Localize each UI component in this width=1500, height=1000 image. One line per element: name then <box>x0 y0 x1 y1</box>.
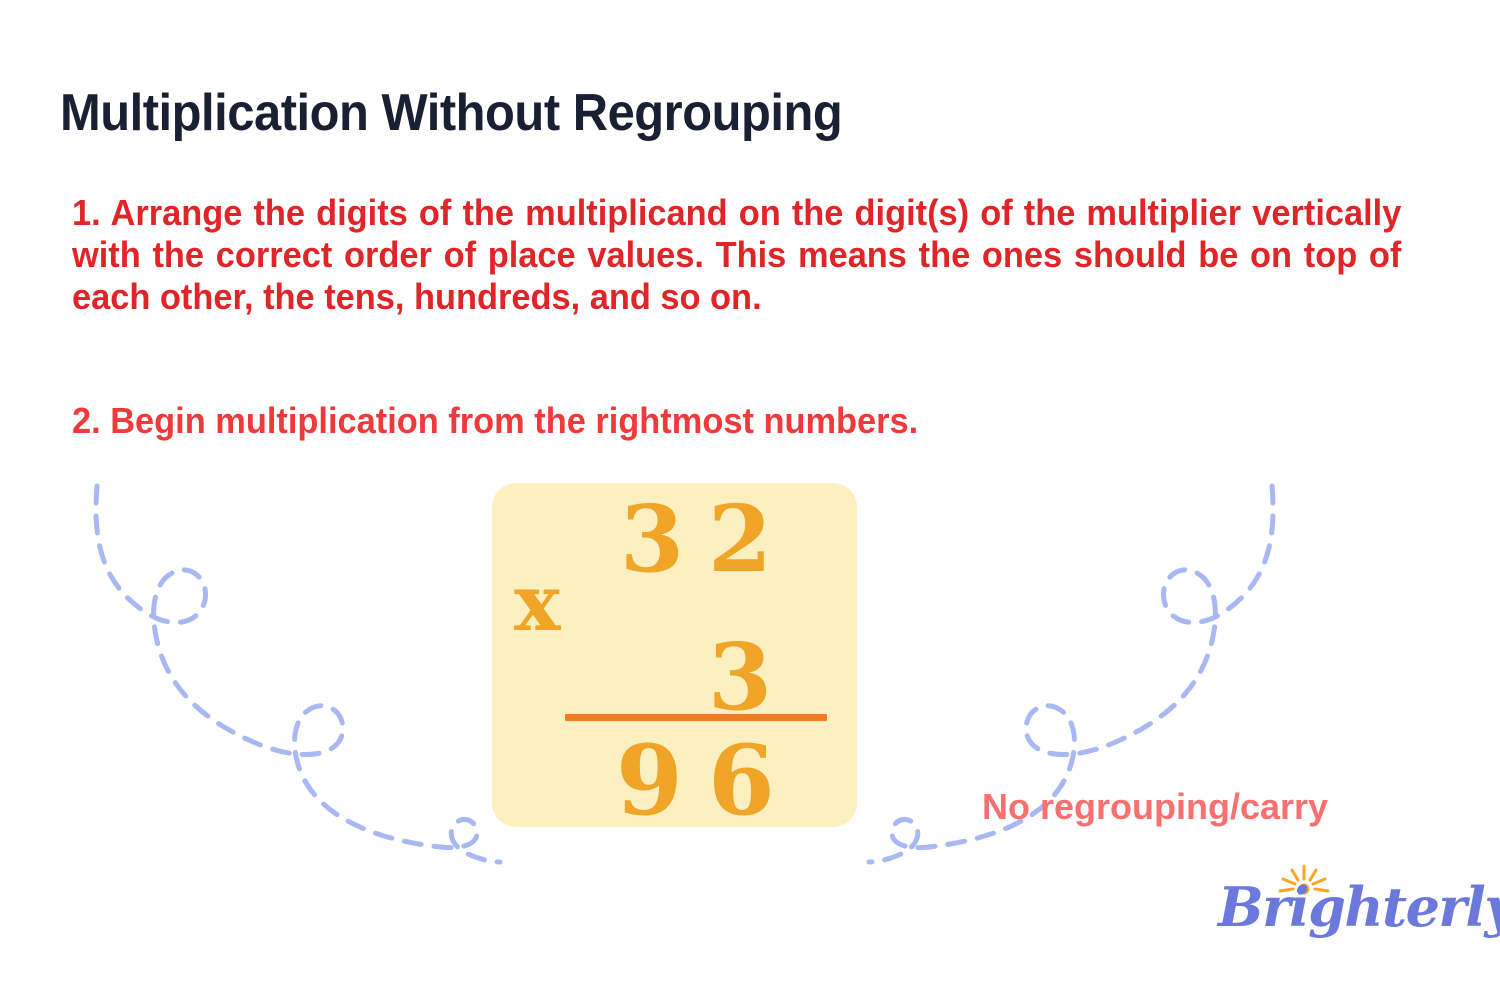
infographic-canvas: Multiplication Without Regrouping 1. Arr… <box>0 0 1500 1000</box>
multiplicand-ones-digit: 2 <box>708 493 772 585</box>
product-ones-digit: 6 <box>708 733 775 829</box>
instruction-step-2: 2. Begin multiplication from the rightmo… <box>72 400 1401 442</box>
math-problem-box: 3 2 x 3 9 6 <box>492 483 857 827</box>
math-horizontal-rule <box>565 714 827 721</box>
brighterly-wordmark: Brighterly <box>1218 880 1450 934</box>
multiplication-operator: x <box>514 565 561 643</box>
multiplicand-tens-digit: 3 <box>620 493 684 585</box>
page-title: Multiplication Without Regrouping <box>60 86 1320 141</box>
brighterly-logo: Brighterly <box>1218 862 1450 954</box>
multiplier-digit: 3 <box>708 631 772 723</box>
product-tens-digit: 9 <box>616 733 683 829</box>
no-regrouping-callout: No regrouping/carry <box>982 786 1328 828</box>
instruction-step-1: 1. Arrange the digits of the multiplican… <box>72 192 1401 318</box>
